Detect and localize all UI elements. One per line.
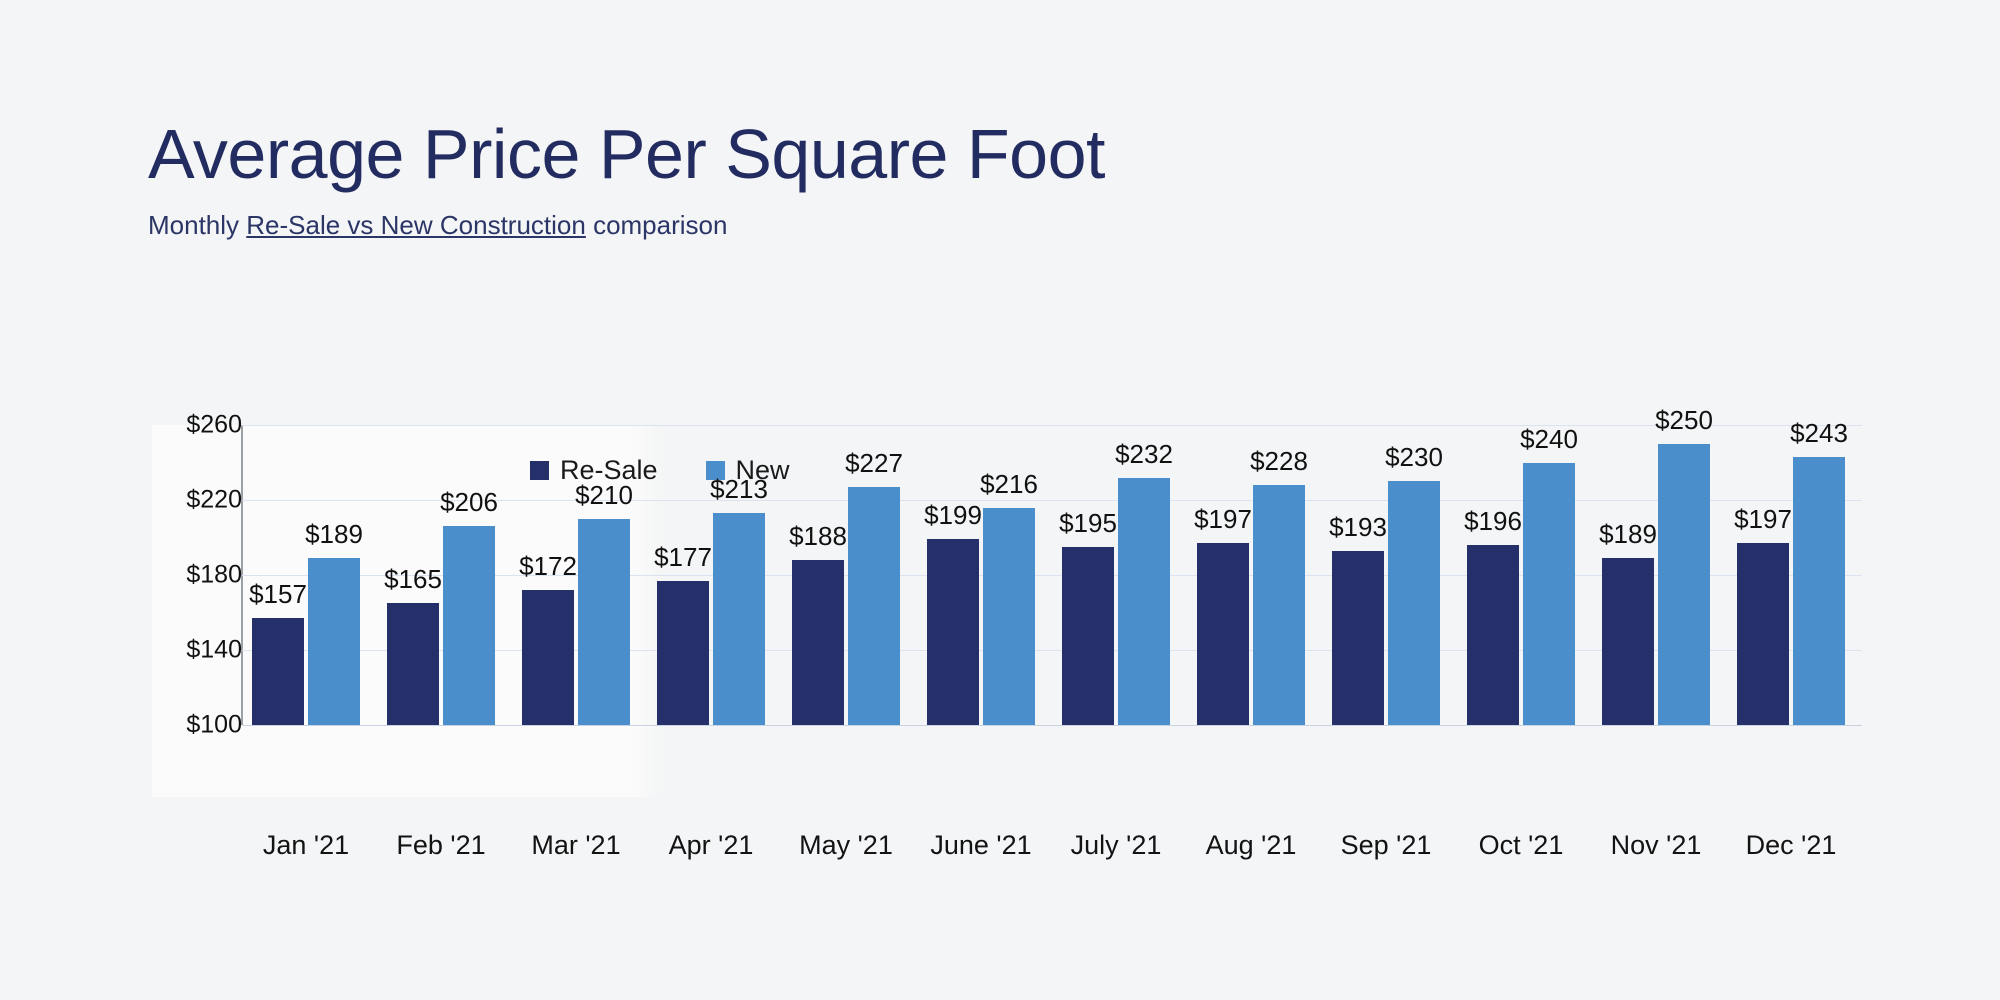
bar-new[interactable] <box>1793 457 1845 725</box>
bar-new[interactable] <box>443 526 495 725</box>
bar-group: $199$216 <box>917 425 1045 725</box>
bar-group: $172$210 <box>512 425 640 725</box>
page-title: Average Price Per Square Foot <box>148 118 1105 192</box>
bar-value-label: $232 <box>1115 439 1173 470</box>
x-axis-tick-label: July '21 <box>1071 830 1162 861</box>
bar-re-sale[interactable] <box>1332 551 1384 725</box>
bar-re-sale[interactable] <box>387 603 439 725</box>
bar-value-label: $195 <box>1059 508 1117 539</box>
bar-new[interactable] <box>1118 478 1170 726</box>
bar-group: $189$250 <box>1592 425 1720 725</box>
bar-re-sale[interactable] <box>1062 547 1114 725</box>
y-axis-tick-label: $100 <box>122 711 242 740</box>
x-axis-tick-label: Feb '21 <box>396 830 485 861</box>
bar-re-sale[interactable] <box>792 560 844 725</box>
bar-group: $196$240 <box>1457 425 1585 725</box>
bar-re-sale[interactable] <box>1737 543 1789 725</box>
bar-re-sale[interactable] <box>927 539 979 725</box>
y-axis-tick-label: $180 <box>122 561 242 590</box>
bar-re-sale[interactable] <box>657 581 709 725</box>
bar-new[interactable] <box>1253 485 1305 725</box>
bar-value-label: $216 <box>980 469 1038 500</box>
bar-group: $165$206 <box>377 425 505 725</box>
bar-group: $195$232 <box>1052 425 1180 725</box>
bar-value-label: $197 <box>1734 504 1792 535</box>
subtitle-suffix: comparison <box>586 210 728 240</box>
x-axis-tick-labels: Jan '21Feb '21Mar '21Apr '21May '21June … <box>242 830 1862 870</box>
bar-new[interactable] <box>1523 463 1575 726</box>
bar-value-label: $172 <box>519 551 577 582</box>
x-axis-tick-label: Sep '21 <box>1341 830 1432 861</box>
bar-value-label: $197 <box>1194 504 1252 535</box>
bar-value-label: $240 <box>1520 424 1578 455</box>
x-axis-tick-label: June '21 <box>930 830 1031 861</box>
bar-new[interactable] <box>1658 444 1710 725</box>
bar-value-label: $165 <box>384 564 442 595</box>
bar-group: $188$227 <box>782 425 910 725</box>
bar-value-label: $227 <box>845 448 903 479</box>
bar-value-label: $210 <box>575 480 633 511</box>
bar-re-sale[interactable] <box>1467 545 1519 725</box>
bar-group: $193$230 <box>1322 425 1450 725</box>
y-axis-tick-label: $260 <box>122 411 242 440</box>
bar-value-label: $188 <box>789 521 847 552</box>
bar-value-label: $228 <box>1250 446 1308 477</box>
bar-value-label: $157 <box>249 579 307 610</box>
x-axis-tick-label: Jan '21 <box>263 830 349 861</box>
bar-new[interactable] <box>848 487 900 725</box>
subtitle-underlined-link[interactable]: Re-Sale vs New Construction <box>246 210 586 240</box>
bar-value-label: $193 <box>1329 512 1387 543</box>
bar-group: $177$213 <box>647 425 775 725</box>
bar-new[interactable] <box>713 513 765 725</box>
x-axis-tick-label: Nov '21 <box>1611 830 1702 861</box>
chart-subtitle: Monthly Re-Sale vs New Construction comp… <box>148 210 1105 241</box>
bar-value-label: $199 <box>924 500 982 531</box>
x-axis-tick-label: Oct '21 <box>1479 830 1564 861</box>
bar-new[interactable] <box>308 558 360 725</box>
chart-header: Average Price Per Square Foot Monthly Re… <box>148 118 1105 241</box>
bar-re-sale[interactable] <box>1197 543 1249 725</box>
gridline <box>242 725 1862 726</box>
bar-value-label: $196 <box>1464 506 1522 537</box>
x-axis-tick-label: Mar '21 <box>531 830 620 861</box>
x-axis-tick-label: Aug '21 <box>1206 830 1297 861</box>
bar-value-label: $213 <box>710 474 768 505</box>
x-axis-tick-label: Dec '21 <box>1746 830 1837 861</box>
subtitle-prefix: Monthly <box>148 210 246 240</box>
bars-layer: $157$189$165$206$172$210$177$213$188$227… <box>242 425 1862 725</box>
bar-re-sale[interactable] <box>1602 558 1654 725</box>
bar-value-label: $250 <box>1655 405 1713 436</box>
bar-group: $197$228 <box>1187 425 1315 725</box>
bar-new[interactable] <box>578 519 630 725</box>
bar-new[interactable] <box>1388 481 1440 725</box>
bar-value-label: $177 <box>654 542 712 573</box>
chart-page: Average Price Per Square Foot Monthly Re… <box>0 0 2000 1000</box>
bar-new[interactable] <box>983 508 1035 726</box>
bar-value-label: $230 <box>1385 442 1443 473</box>
bar-group: $157$189 <box>242 425 370 725</box>
x-axis-tick-label: Apr '21 <box>669 830 754 861</box>
bar-value-label: $243 <box>1790 418 1848 449</box>
bar-group: $197$243 <box>1727 425 1855 725</box>
y-axis-tick-label: $220 <box>122 486 242 515</box>
y-axis-tick-label: $140 <box>122 636 242 665</box>
bar-value-label: $189 <box>1599 519 1657 550</box>
bar-re-sale[interactable] <box>252 618 304 725</box>
x-axis-tick-label: May '21 <box>799 830 893 861</box>
bar-value-label: $206 <box>440 487 498 518</box>
bar-value-label: $189 <box>305 519 363 550</box>
bar-re-sale[interactable] <box>522 590 574 725</box>
